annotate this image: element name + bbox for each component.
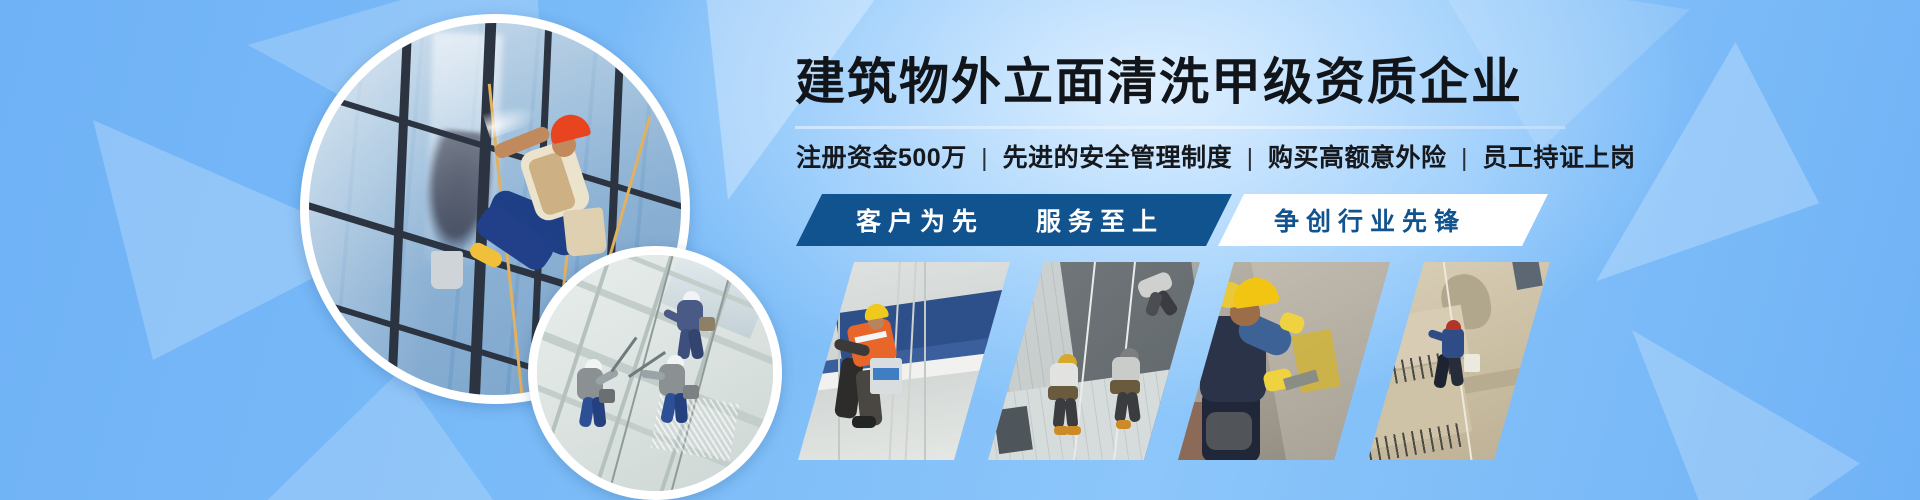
worker-torso — [1442, 328, 1464, 358]
subline-item-3: 购买高额意外险 — [1268, 144, 1447, 172]
strip-photo-4 — [1368, 262, 1550, 460]
strip-photo-4-content — [1368, 262, 1550, 460]
window — [993, 406, 1033, 454]
subline-item-1: 注册资金500万 — [796, 144, 967, 172]
pail-label — [873, 368, 899, 380]
worker-boot — [1066, 426, 1081, 435]
hanging-bucket — [431, 251, 463, 289]
strip-photo-3-content — [1178, 262, 1390, 460]
promo-banner: 建筑物外立面清洗甲级资质企业 注册资金500万 | 先进的安全管理制度 | 购买… — [0, 0, 1920, 500]
worker-pail — [1464, 354, 1480, 372]
window — [1511, 262, 1543, 290]
photo-facade-team-cleaning — [537, 255, 773, 491]
slogan-text-industry-pioneer: 争创行业先锋 — [1274, 194, 1466, 246]
slogan-text-service-supreme: 服务至上 — [1036, 194, 1164, 246]
strip-photo-2-content — [988, 262, 1200, 460]
strip-photo-1-content — [798, 262, 1010, 460]
slogan-bar: 客户为先 服务至上 争创行业先锋 — [796, 194, 1548, 246]
worker-bucket — [563, 207, 608, 257]
worker-boot — [1116, 420, 1131, 429]
wall-joint — [838, 262, 840, 460]
headline-divider — [795, 126, 1565, 129]
slogan-dark-panel: 客户为先 服务至上 — [796, 194, 1232, 246]
subline-separator: | — [1240, 144, 1261, 172]
subline-item-2: 先进的安全管理制度 — [1003, 144, 1233, 172]
circle-photo-secondary — [528, 246, 782, 500]
subline-separator: | — [974, 144, 995, 172]
worker-bucket — [683, 385, 699, 399]
vest-stripe — [854, 331, 887, 344]
strip-photo-1 — [798, 262, 1010, 460]
red-helmet — [1446, 320, 1461, 330]
worker-boot — [852, 416, 876, 428]
worker-bucket — [699, 317, 715, 331]
banner-subline: 注册资金500万 | 先进的安全管理制度 | 购买高额意外险 | 员工持证上岗 — [796, 140, 1635, 176]
slogan-text-customer-first: 客户为先 — [856, 194, 984, 246]
strip-photo-2 — [988, 262, 1200, 460]
subline-separator: | — [1454, 144, 1475, 172]
worker-body — [659, 364, 685, 396]
photo-strip — [798, 262, 1550, 460]
slogan-light-panel: 争创行业先锋 — [1218, 194, 1548, 246]
wall-joint — [924, 262, 926, 460]
strip-photo-3 — [1178, 262, 1390, 460]
subline-item-4: 员工持证上岗 — [1482, 144, 1635, 172]
worker-top — [1138, 270, 1190, 310]
banner-headline: 建筑物外立面清洗甲级资质企业 — [795, 52, 1523, 112]
paint-pail — [870, 358, 902, 394]
trouser-stain — [1206, 412, 1252, 450]
worker-bucket — [599, 389, 615, 403]
